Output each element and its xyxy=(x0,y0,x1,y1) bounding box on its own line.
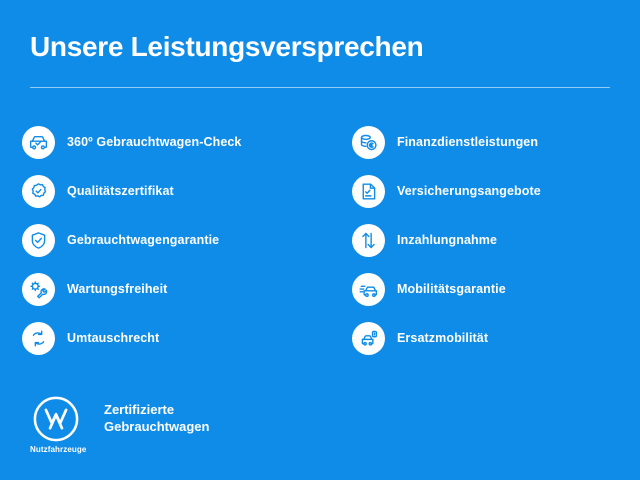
car-motion-icon xyxy=(352,273,385,306)
car-check-360-icon xyxy=(22,126,55,159)
list-item-label: 360º Gebrauchtwagen-Check xyxy=(67,135,242,149)
vw-roundel-icon xyxy=(33,396,79,442)
shield-check-icon xyxy=(22,224,55,257)
list-item: 360º Gebrauchtwagen-Check xyxy=(22,118,242,166)
footer: Nutzfahrzeuge Zertifizierte Gebrauchtwag… xyxy=(30,396,209,454)
list-item-label: Versicherungsangebote xyxy=(397,184,541,198)
benefits-column-left: 360º Gebrauchtwagen-Check Qualitätszerti… xyxy=(22,118,242,363)
list-item: Umtauschrecht xyxy=(22,314,242,362)
document-check-icon xyxy=(352,175,385,208)
quality-seal-icon xyxy=(22,175,55,208)
list-item-label: Wartungsfreiheit xyxy=(67,282,167,296)
list-item: Ersatzmobilität xyxy=(352,314,541,362)
list-item: Mobilitätsgarantie xyxy=(352,265,541,313)
list-item-label: Finanzdienstleistungen xyxy=(397,135,538,149)
list-item-label: Mobilitätsgarantie xyxy=(397,282,506,296)
title-divider xyxy=(30,87,610,88)
wrench-gear-icon xyxy=(22,273,55,306)
list-item: Wartungsfreiheit xyxy=(22,265,242,313)
list-item-label: Ersatzmobilität xyxy=(397,331,488,345)
list-item-label: Inzahlungnahme xyxy=(397,233,497,247)
volkswagen-logo: Nutzfahrzeuge xyxy=(30,396,82,454)
logo-subtitle: Nutzfahrzeuge xyxy=(30,445,82,454)
coins-euro-icon xyxy=(352,126,385,159)
list-item-label: Umtauschrecht xyxy=(67,331,159,345)
car-key-icon xyxy=(352,322,385,355)
list-item: Qualitätszertifikat xyxy=(22,167,242,215)
list-item: Finanzdienstleistungen xyxy=(352,118,541,166)
list-item-label: Qualitätszertifikat xyxy=(67,184,174,198)
list-item: Inzahlungnahme xyxy=(352,216,541,264)
exchange-arrows-icon xyxy=(22,322,55,355)
footer-line-1: Zertifizierte xyxy=(104,401,209,418)
benefits-column-right: Finanzdienstleistungen Versicherungsange… xyxy=(352,118,541,363)
footer-text: Zertifizierte Gebrauchtwagen xyxy=(104,401,209,435)
list-item: Versicherungsangebote xyxy=(352,167,541,215)
slide-root: Unsere Leistungsversprechen 360º Gebrauc… xyxy=(0,0,640,480)
page-title: Unsere Leistungsversprechen xyxy=(30,31,423,63)
list-item-label: Gebrauchtwagengarantie xyxy=(67,233,219,247)
up-down-arrows-icon xyxy=(352,224,385,257)
footer-line-2: Gebrauchtwagen xyxy=(104,418,209,435)
list-item: Gebrauchtwagengarantie xyxy=(22,216,242,264)
